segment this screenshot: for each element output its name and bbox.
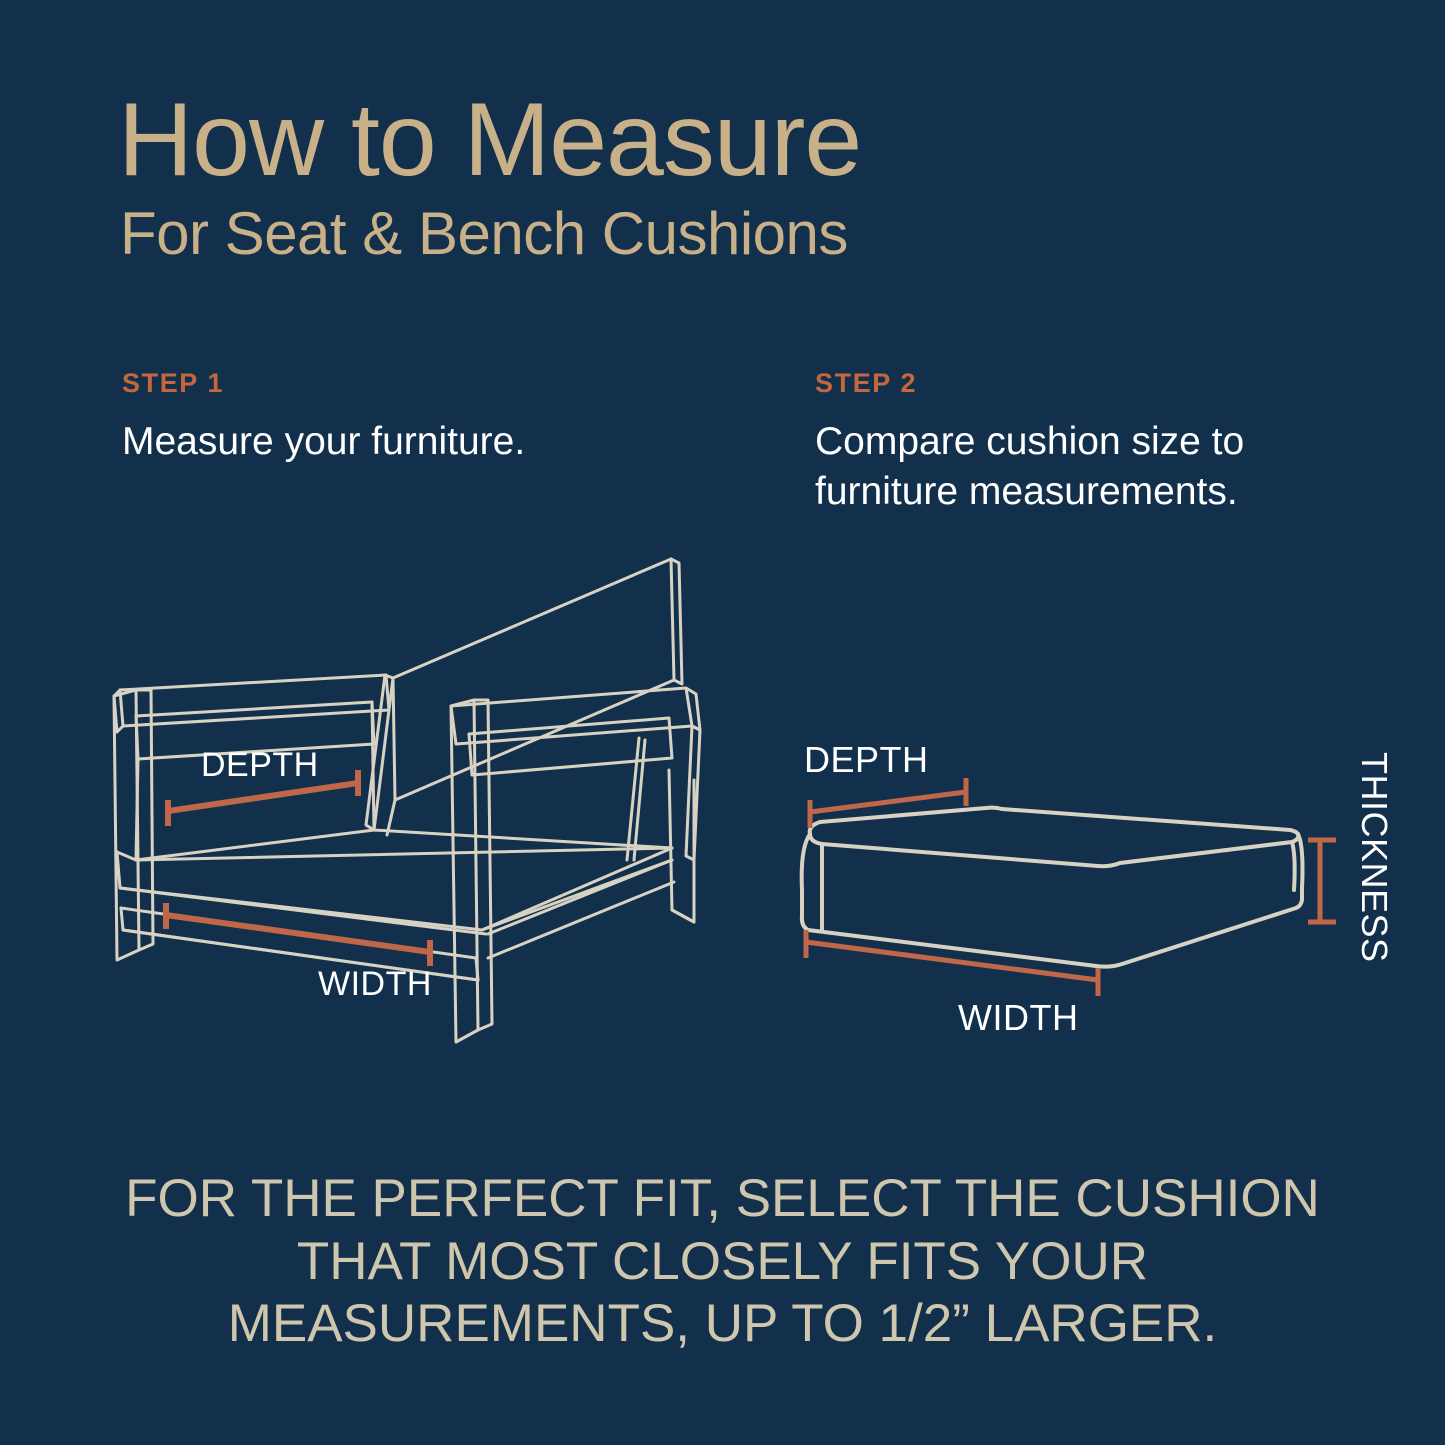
chair-right-brace <box>627 738 645 860</box>
chair-right-lower-rail <box>488 860 674 958</box>
step-2-kicker: STEP 2 <box>815 368 1375 399</box>
footer-line-1: FOR THE PERFECT FIT, SELECT THE CUSHION <box>0 1168 1445 1231</box>
cushion-width-measure <box>806 930 1098 996</box>
page-title: How to Measure <box>118 88 861 192</box>
step-2-block: STEP 2 Compare cushion size to furniture… <box>815 368 1375 516</box>
step-1-body: Measure your furniture. <box>122 417 742 467</box>
cushion-line-art <box>802 808 1303 967</box>
cushion-depth-label: DEPTH <box>804 739 929 780</box>
cushion-thickness-measure <box>1308 840 1336 922</box>
cushion-width-label: WIDTH <box>958 997 1078 1038</box>
cushion-diagram: DEPTH WIDTH THICKNESS <box>780 730 1380 1050</box>
footer-note: FOR THE PERFECT FIT, SELECT THE CUSHION … <box>0 1168 1445 1356</box>
chair-diagram: DEPTH WIDTH <box>96 530 736 1110</box>
chair-width-measure <box>166 903 430 966</box>
page-subtitle: For Seat & Bench Cushions <box>120 204 848 264</box>
step-1-block: STEP 1 Measure your furniture. <box>122 368 742 467</box>
chair-depth-label: DEPTH <box>201 746 319 784</box>
step-2-body: Compare cushion size to furniture measur… <box>815 417 1375 516</box>
cushion-thickness-label: THICKNESS <box>1354 752 1395 963</box>
chair-right-back-leg <box>669 726 700 922</box>
infographic-page: How to Measure For Seat & Bench Cushions… <box>0 0 1445 1445</box>
footer-line-2: THAT MOST CLOSELY FITS YOUR <box>0 1231 1445 1294</box>
step-1-kicker: STEP 1 <box>122 368 742 399</box>
footer-line-3: MEASUREMENTS, UP TO 1/2” LARGER. <box>0 1293 1445 1356</box>
chair-width-label: WIDTH <box>318 965 432 1003</box>
